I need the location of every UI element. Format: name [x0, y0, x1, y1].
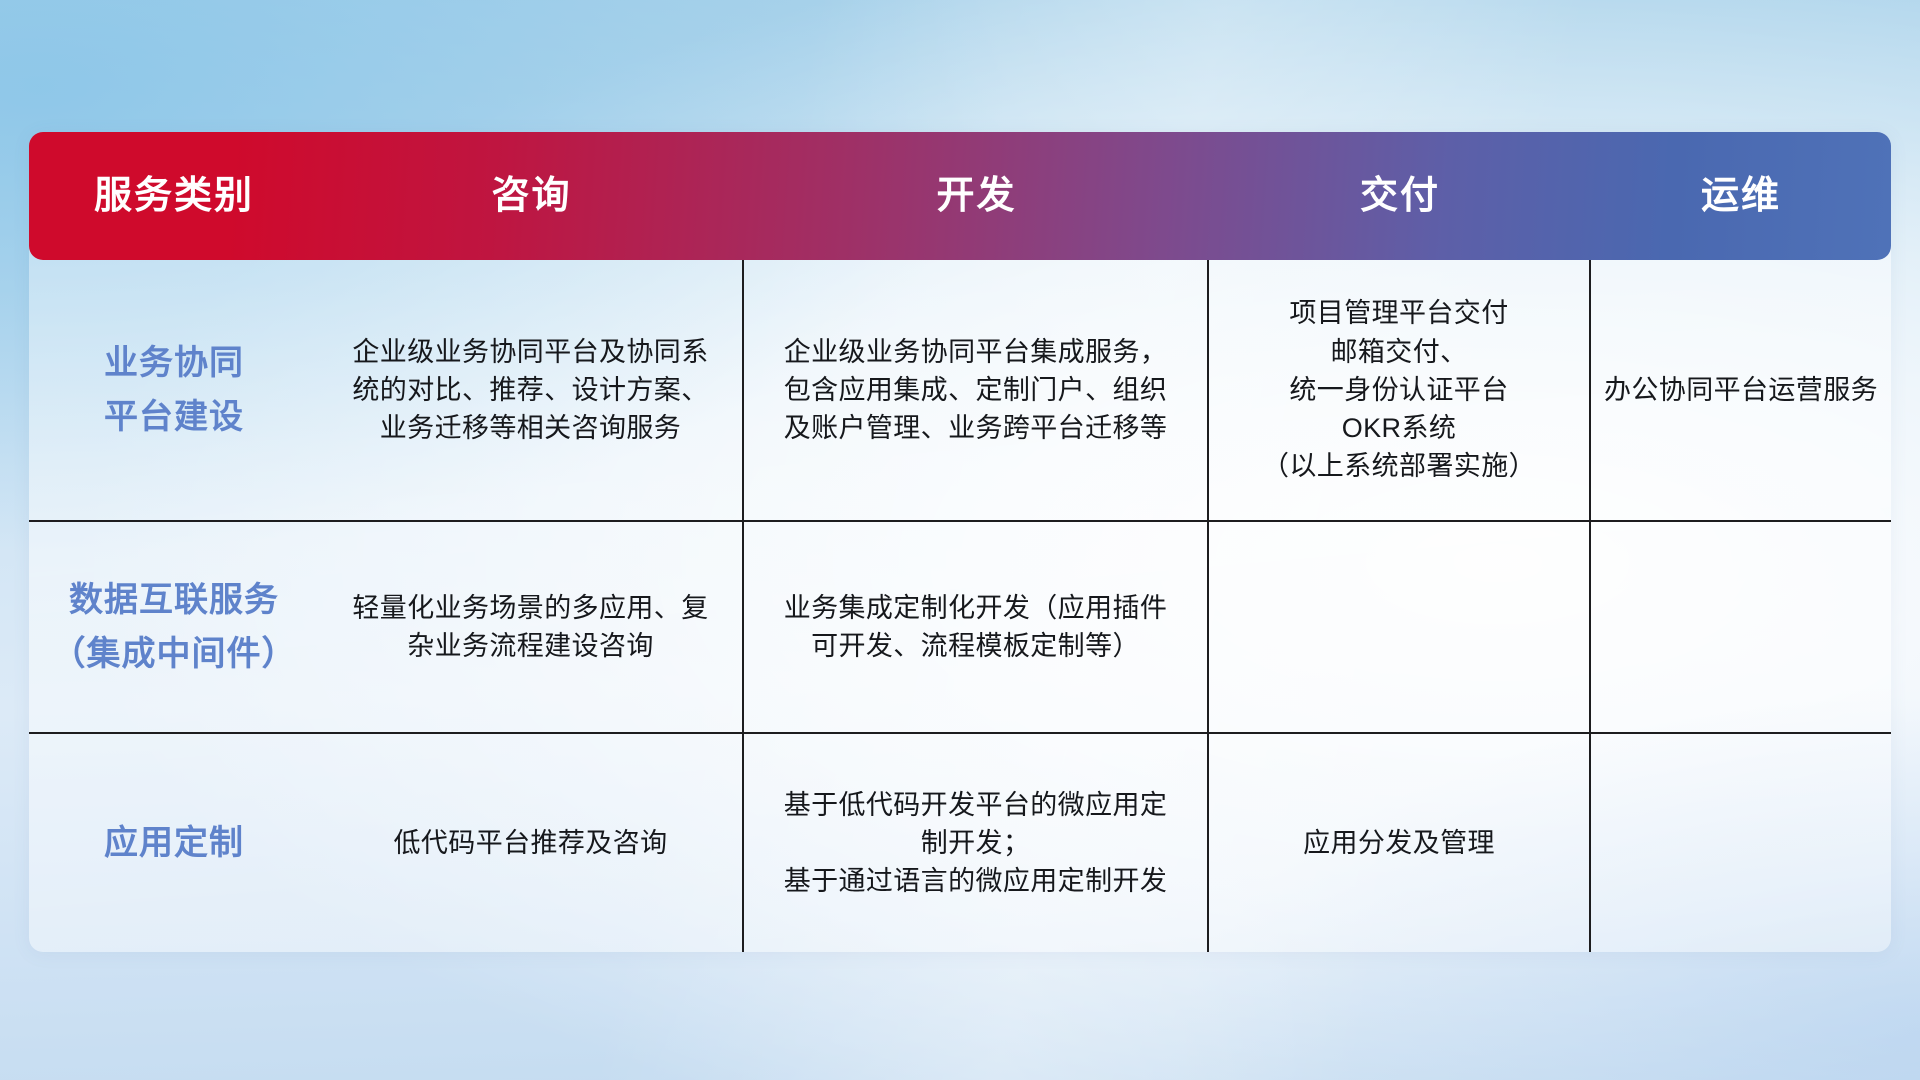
cell-development: 企业级业务协同平台集成服务， 包含应用集成、定制门户、组织 及账户管理、业务跨平…: [744, 260, 1209, 520]
row-category-label: 业务协同 平台建设: [29, 260, 319, 520]
cell-consulting: 低代码平台推荐及咨询: [319, 734, 744, 952]
cell-consulting: 轻量化业务场景的多应用、复 杂业务流程建设咨询: [319, 522, 744, 732]
column-header-development: 开发: [744, 177, 1209, 215]
column-header-consulting: 咨询: [319, 177, 744, 215]
table-body: 业务协同 平台建设 企业级业务协同平台及协同系 统的对比、推荐、设计方案、 业务…: [29, 260, 1891, 952]
cell-consulting: 企业级业务协同平台及协同系 统的对比、推荐、设计方案、 业务迁移等相关咨询服务: [319, 260, 744, 520]
cell-development: 业务集成定制化开发（应用插件 可开发、流程模板定制等）: [744, 522, 1209, 732]
table-row: 业务协同 平台建设 企业级业务协同平台及协同系 统的对比、推荐、设计方案、 业务…: [29, 260, 1891, 522]
column-header-operations: 运维: [1591, 177, 1891, 215]
column-header-category: 服务类别: [29, 177, 319, 215]
cell-operations: [1591, 522, 1891, 732]
row-category-label: 数据互联服务 （集成中间件）: [29, 522, 319, 732]
row-category-label: 应用定制: [29, 734, 319, 952]
cell-delivery: [1209, 522, 1591, 732]
column-header-delivery: 交付: [1209, 177, 1591, 215]
cell-operations: 办公协同平台运营服务: [1591, 260, 1891, 520]
table-row: 应用定制 低代码平台推荐及咨询 基于低代码开发平台的微应用定 制开发； 基于通过…: [29, 734, 1891, 952]
cell-delivery: 应用分发及管理: [1209, 734, 1591, 952]
cell-development: 基于低代码开发平台的微应用定 制开发； 基于通过语言的微应用定制开发: [744, 734, 1209, 952]
cell-delivery: 项目管理平台交付 邮箱交付、 统一身份认证平台 OKR系统 （以上系统部署实施）: [1209, 260, 1591, 520]
cell-operations: [1591, 734, 1891, 952]
table-header-row: 服务类别 咨询 开发 交付 运维: [29, 132, 1891, 260]
table-row: 数据互联服务 （集成中间件） 轻量化业务场景的多应用、复 杂业务流程建设咨询 业…: [29, 522, 1891, 734]
